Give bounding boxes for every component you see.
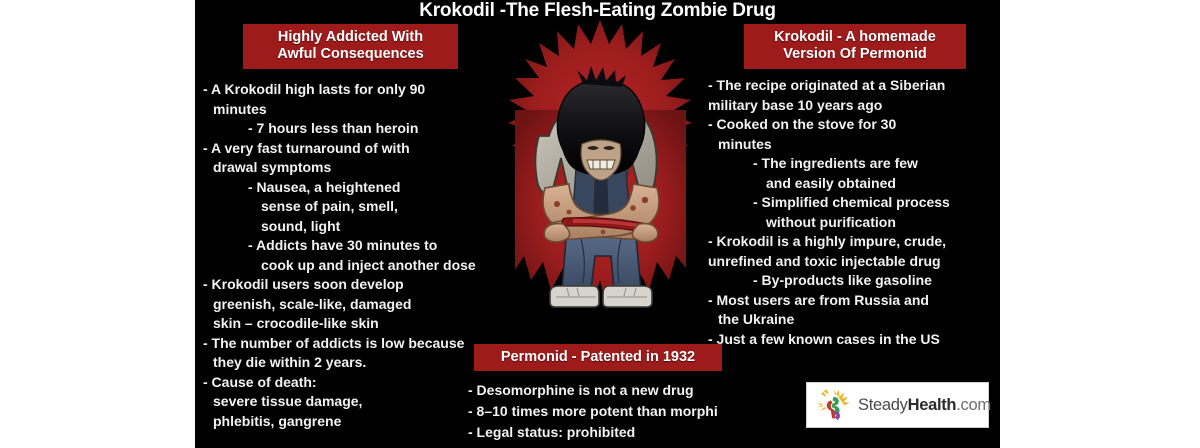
bullet-line: - The number of addicts is low because: [203, 334, 503, 354]
bullet-line: sound, light: [203, 217, 503, 237]
bullet-line: unrefined and toxic injectable drug: [708, 252, 1000, 272]
right-heading-line-2: Version Of Permonid: [754, 46, 956, 63]
bullet-line: - Simplified chemical process: [708, 193, 1000, 213]
left-heading-line-1: Highly Addicted With: [253, 29, 448, 46]
bullet-line: - A very fast turnaround of with: [203, 139, 503, 159]
bullet-line: - Addicts have 30 minutes to: [203, 236, 503, 256]
bullet-line: sense of pain, smell,: [203, 197, 503, 217]
right-heading-line-1: Krokodil - A homemade: [754, 29, 956, 46]
bullet-line: - The recipe originated at a Siberian: [708, 76, 1000, 96]
steadyhealth-logo-text: SteadyHealth.com: [858, 396, 991, 415]
bullet-line: - A Krokodil high lasts for only 90: [203, 80, 503, 100]
bottom-panel-heading: Permonid - Patented in 1932: [474, 344, 722, 371]
bullet-line: - Desomorphine is not a new drug: [468, 380, 798, 401]
page-title: Krokodil -The Flesh-Eating Zombie Drug: [195, 0, 1000, 22]
left-panel-heading: Highly Addicted With Awful Consequences: [243, 24, 458, 69]
bottom-panel-bullet-list: - Desomorphine is not a new drug- 8–10 t…: [468, 380, 798, 443]
bullet-line: - 7 hours less than heroin: [203, 119, 503, 139]
bullet-line: minutes: [203, 100, 503, 120]
bullet-line: greenish, scale-like, damaged: [203, 295, 503, 315]
bullet-line: cook up and inject another dose: [203, 256, 503, 276]
right-panel-bullet-list: - The recipe originated at a Siberianmil…: [708, 76, 1000, 349]
bullet-line: phlebitis, gangrene: [203, 412, 503, 432]
sun-figure-logo-icon: [816, 388, 852, 422]
bullet-line: - Legal status: prohibited: [468, 422, 798, 443]
bullet-line: - Krokodil users soon develop: [203, 275, 503, 295]
logo-brand-primary: Steady: [858, 396, 908, 414]
bullet-line: without purification: [708, 213, 1000, 233]
left-panel-bullet-list: - A Krokodil high lasts for only 90minut…: [203, 80, 503, 431]
bullet-line: military base 10 years ago: [708, 96, 1000, 116]
bullet-line: - The ingredients are few: [708, 154, 1000, 174]
bullet-line: and easily obtained: [708, 174, 1000, 194]
bullet-line: drawal symptoms: [203, 158, 503, 178]
bullet-line: - Cause of death:: [203, 373, 503, 393]
bullet-line: - Most users are from Russia and: [708, 291, 1000, 311]
logo-brand-tld: .com: [956, 396, 991, 414]
infographic-panel: Krokodil -The Flesh-Eating Zombie Drug H…: [195, 0, 1000, 448]
hunched-addict-figure-illustration: [483, 18, 718, 348]
infographic-poster: Krokodil -The Flesh-Eating Zombie Drug H…: [0, 0, 1200, 448]
bullet-line: severe tissue damage,: [203, 392, 503, 412]
shoes: [550, 286, 652, 307]
bullet-line: - Nausea, a heightened: [203, 178, 503, 198]
steadyhealth-logo[interactable]: SteadyHealth.com: [806, 382, 989, 428]
bullet-line: minutes: [708, 135, 1000, 155]
bullet-line: they die within 2 years.: [203, 353, 503, 373]
bullet-line: - Cooked on the stove for 30: [708, 115, 1000, 135]
left-heading-line-2: Awful Consequences: [253, 46, 448, 63]
bullet-line: skin – crocodile-like skin: [203, 314, 503, 334]
bullet-line: the Ukraine: [708, 310, 1000, 330]
right-panel-heading: Krokodil - A homemade Version Of Permoni…: [744, 24, 966, 69]
bullet-line: - Just a few known cases in the US: [708, 330, 1000, 350]
logo-brand-secondary: Health: [908, 396, 957, 414]
bullet-line: - By-products like gasoline: [708, 271, 1000, 291]
bullet-line: - 8–10 times more potent than morphi: [468, 401, 798, 422]
bullet-line: - Krokodil is a highly impure, crude,: [708, 232, 1000, 252]
